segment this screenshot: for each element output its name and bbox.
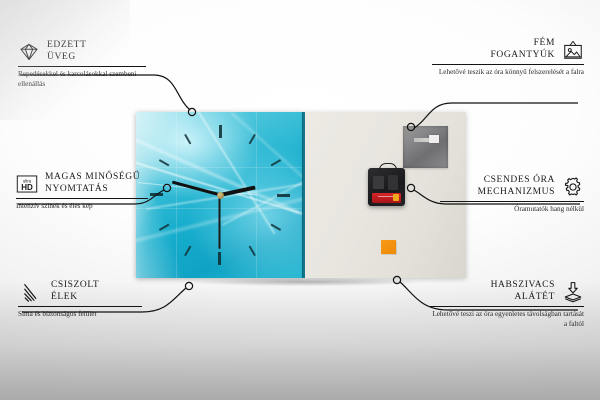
mechanism-hook: [379, 163, 397, 172]
feature-title-line1: CSENDES ÓRA: [478, 175, 555, 187]
foam-pad: [381, 240, 396, 254]
feature-divider: [430, 306, 584, 307]
clock-center-cap: [217, 192, 224, 199]
feature-title-line2: ÉLEK: [51, 292, 99, 304]
feature-subtitle: Repedésekkel és karcolásokkal szembeni e…: [18, 70, 146, 89]
feature-title-line1: CSISZOLT: [51, 280, 99, 292]
feature-subtitle: Lehetővé teszik az óra könnyű felszerelé…: [432, 68, 584, 78]
gear-icon: [562, 176, 584, 198]
clock-tick: [219, 125, 221, 195]
feature-subtitle: Lehetővé teszi az óra egyenletes távolsá…: [430, 310, 584, 329]
product-image: [136, 112, 466, 278]
feature-title-line1: MAGAS MINŐSÉGŰ: [45, 172, 140, 184]
feature-divider: [18, 306, 142, 307]
metal-hanger: [403, 126, 448, 168]
feature-divider: [432, 64, 584, 65]
foam-pad-icon: [562, 281, 584, 303]
feature-title-line2: FOGANTYÚK: [490, 50, 555, 62]
feature-subtitle: Intenzív színek és éles kép: [16, 202, 156, 212]
feature-title-line1: HABSZIVACS: [491, 280, 555, 292]
mechanism-slot: [373, 176, 384, 189]
feature-title-line2: ALÁTÉT: [491, 292, 555, 304]
feature-divider: [18, 66, 146, 67]
feature-polished-edges[interactable]: CSISZOLT ÉLEK Sima és biztonságos felüle…: [22, 280, 172, 320]
feature-title-line2: NYOMTATÁS: [45, 184, 140, 196]
picture-hanger-icon: [562, 39, 584, 61]
feature-foam-pad[interactable]: HABSZIVACS ALÁTÉT Lehetővé teszi az óra …: [430, 280, 584, 329]
feature-title-line2: MECHANIZMUS: [478, 187, 555, 199]
svg-text:HD: HD: [21, 182, 33, 191]
feature-subtitle: Óramutatók hang nélkül: [440, 205, 584, 215]
clock-mechanism: [368, 168, 405, 206]
feature-title-line1: FÉM: [490, 38, 555, 50]
feature-high-quality-print[interactable]: ultra HD MAGAS MINŐSÉGŰ NYOMTATÁS Intenz…: [16, 172, 176, 212]
mechanism-slot: [388, 175, 398, 190]
infographic-canvas: EDZETT ÜVEG Repedésekkel és karcolásokka…: [0, 0, 600, 400]
battery: [372, 193, 401, 203]
polished-edges-icon: [22, 281, 44, 303]
feature-divider: [16, 198, 148, 199]
feature-subtitle: Sima és biztonságos felület: [18, 310, 148, 320]
feature-metal-handles[interactable]: FÉM FOGANTYÚK Lehetővé teszik az óra kön…: [432, 38, 584, 78]
feature-tempered-glass[interactable]: EDZETT ÜVEG Repedésekkel és karcolásokka…: [18, 40, 168, 89]
feature-divider: [440, 201, 584, 202]
ultra-hd-icon: ultra HD: [16, 173, 38, 195]
feature-title-line2: ÜVEG: [47, 52, 86, 64]
feature-title-line1: EDZETT: [47, 40, 86, 52]
feature-silent-mechanism[interactable]: CSENDES ÓRA MECHANIZMUS Óramutatók hang …: [440, 175, 584, 215]
diamond-icon: [18, 41, 40, 63]
